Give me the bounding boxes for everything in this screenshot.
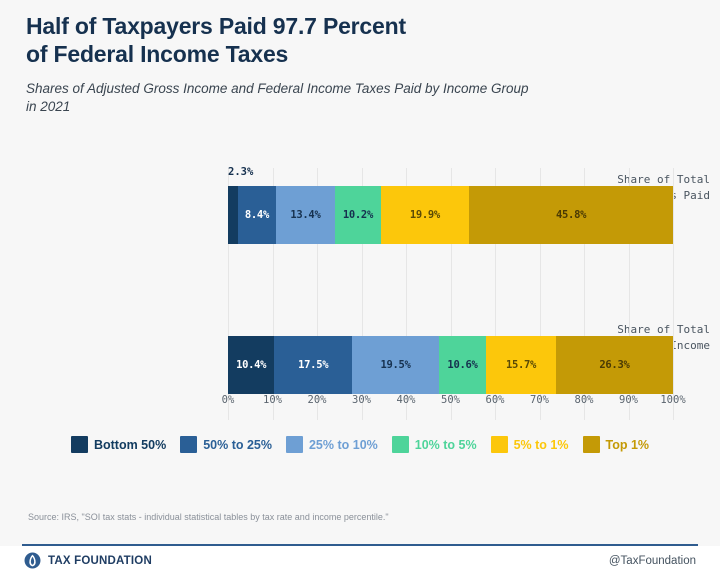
bar-segment-value-label: 8.4%	[245, 209, 269, 221]
legend-swatch-icon	[71, 436, 88, 453]
x-axis-tick-label: 70%	[530, 394, 549, 406]
bar-segment: 26.3%	[556, 336, 673, 394]
legend-item-label: 50% to 25%	[203, 438, 272, 452]
x-axis-tick-label: 10%	[263, 394, 282, 406]
bar-segment-value-label: 10.6%	[447, 359, 477, 371]
segment-callout-bottom-50-taxes: 2.3%	[228, 166, 253, 178]
x-axis-tick-label: 0%	[222, 394, 235, 406]
x-axis-tick-label: 50%	[441, 394, 460, 406]
chart-subtitle: Shares of Adjusted Gross Income and Fede…	[26, 80, 686, 116]
x-axis-tick-label: 30%	[352, 394, 371, 406]
bar-segment: 15.7%	[486, 336, 556, 394]
bar-segment-value-label: 10.4%	[236, 359, 266, 371]
x-axis-tick-label: 90%	[619, 394, 638, 406]
gridline	[673, 168, 674, 420]
stacked-bar-income-taxes-paid: 8.4%13.4%10.2%19.9%45.8%	[228, 186, 673, 244]
legend-swatch-icon	[286, 436, 303, 453]
bar-segment-value-label: 26.3%	[599, 359, 629, 371]
bar-segment: 19.5%	[352, 336, 439, 394]
bar-segment: 10.2%	[335, 186, 380, 244]
legend-item[interactable]: Bottom 50%	[71, 436, 166, 453]
page-title: Half of Taxpayers Paid 97.7 Percent of F…	[26, 12, 686, 68]
page-footer: TAX FOUNDATION @TaxFoundation	[0, 546, 720, 576]
x-axis-tick-label: 60%	[486, 394, 505, 406]
bar-segment-value-label: 15.7%	[506, 359, 536, 371]
bar-segment: 13.4%	[276, 186, 336, 244]
legend-item-label: Bottom 50%	[94, 438, 166, 452]
source-note: Source: IRS, "SOI tax stats - individual…	[28, 512, 389, 522]
bar-segment-value-label: 17.5%	[298, 359, 328, 371]
bar-segment-value-label: 19.9%	[410, 209, 440, 221]
legend-swatch-icon	[583, 436, 600, 453]
legend-item-label: 10% to 5%	[415, 438, 477, 452]
legend-swatch-icon	[491, 436, 508, 453]
legend-item[interactable]: 25% to 10%	[286, 436, 378, 453]
legend-item-label: 25% to 10%	[309, 438, 378, 452]
footer-brand-name: TAX FOUNDATION	[48, 555, 152, 567]
tax-foundation-logo-icon	[24, 552, 41, 569]
chart-legend: Bottom 50%50% to 25%25% to 10%10% to 5%5…	[0, 436, 720, 453]
bar-segment: 45.8%	[469, 186, 673, 244]
chart-header: Half of Taxpayers Paid 97.7 Percent of F…	[26, 12, 686, 117]
x-axis-tick-label: 20%	[308, 394, 327, 406]
bar-segment-value-label: 45.8%	[556, 209, 586, 221]
x-axis-tick-label: 100%	[660, 394, 685, 406]
bar-segment: 8.4%	[238, 186, 275, 244]
brand-lockup: TAX FOUNDATION	[24, 552, 152, 569]
legend-item[interactable]: 5% to 1%	[491, 436, 569, 453]
bar-segment	[228, 186, 238, 244]
legend-item-label: Top 1%	[606, 438, 650, 452]
stacked-bar-adjusted-gross-income: 10.4%17.5%19.5%10.6%15.7%26.3%	[228, 336, 673, 394]
bar-segment: 17.5%	[274, 336, 352, 394]
chart-page: Half of Taxpayers Paid 97.7 Percent of F…	[0, 0, 720, 576]
legend-item[interactable]: Top 1%	[583, 436, 650, 453]
bar-segment-value-label: 19.5%	[380, 359, 410, 371]
legend-item[interactable]: 10% to 5%	[392, 436, 477, 453]
chart-plot-wrapper: Share of Total Income Taxes Paid Share o…	[0, 140, 720, 408]
bar-segment-value-label: 13.4%	[290, 209, 320, 221]
x-axis-tick-label: 40%	[397, 394, 416, 406]
legend-swatch-icon	[392, 436, 409, 453]
legend-item-label: 5% to 1%	[514, 438, 569, 452]
x-axis-tick-label: 80%	[575, 394, 594, 406]
legend-item[interactable]: 50% to 25%	[180, 436, 272, 453]
bar-segment: 19.9%	[381, 186, 470, 244]
bar-segment: 10.6%	[439, 336, 486, 394]
bar-segment: 10.4%	[228, 336, 274, 394]
bar-segment-value-label: 10.2%	[343, 209, 373, 221]
legend-swatch-icon	[180, 436, 197, 453]
plot-area: 8.4%13.4%10.2%19.9%45.8% 10.4%17.5%19.5%…	[228, 168, 673, 420]
x-axis: 0%10%20%30%40%50%60%70%80%90%100%	[228, 394, 673, 412]
footer-social-handle: @TaxFoundation	[609, 555, 696, 567]
